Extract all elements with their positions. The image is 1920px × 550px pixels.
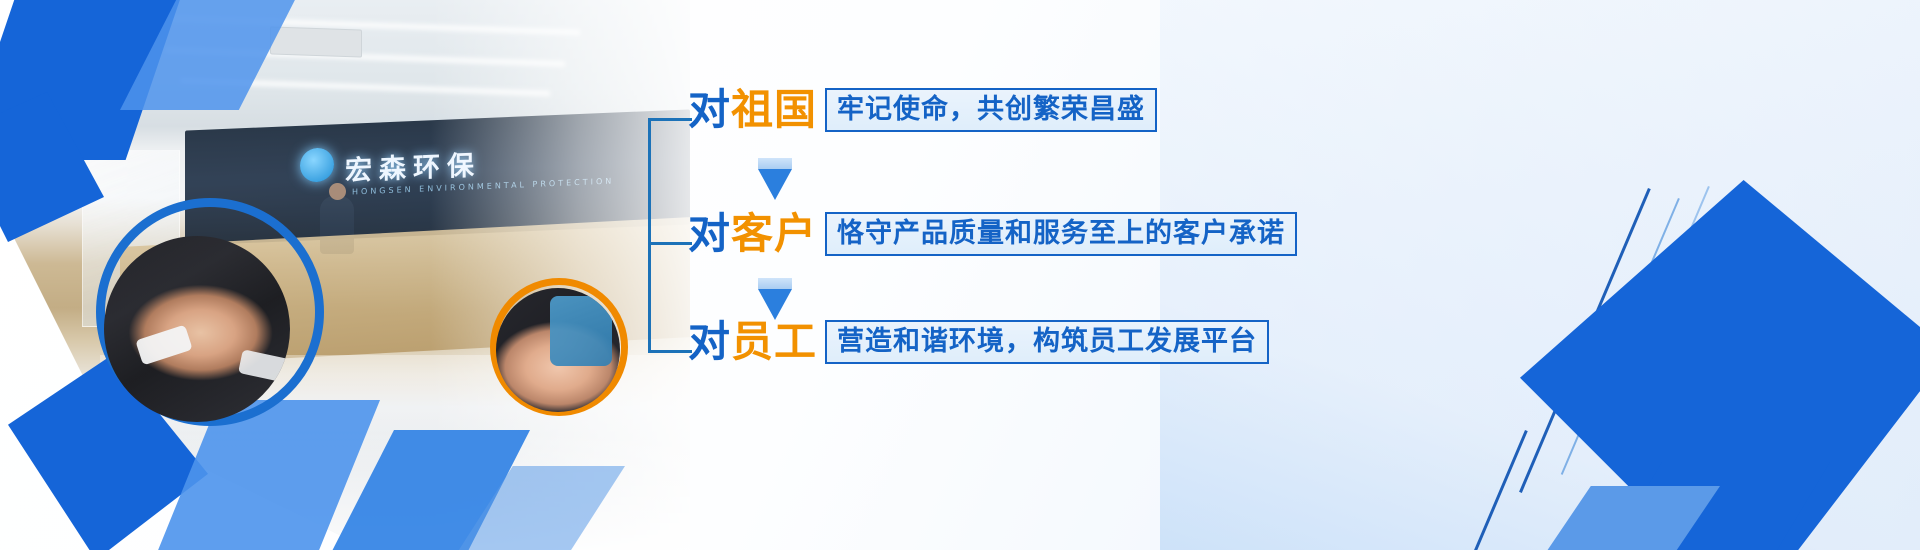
down-arrow-icon-1 [758, 158, 792, 200]
down-arrow-icon-2 [758, 278, 792, 320]
value-row-2: 对客户 恪守产品质量和服务至上的客户承诺 [688, 212, 1297, 256]
value-lead-prefix-1: 对 [688, 85, 731, 134]
ceiling-vent [270, 26, 362, 57]
value-quote-1: 牢记使命，共创繁荣昌盛 [825, 88, 1157, 132]
value-lead-prefix-2: 对 [688, 209, 731, 258]
value-row-3: 对员工 营造和谐环境，构筑员工发展平台 [688, 320, 1269, 364]
value-lead-2: 对客户 [688, 213, 817, 255]
value-lead-highlight-3: 员工 [731, 317, 817, 366]
bracket-arm-3 [648, 350, 692, 353]
value-lead-3: 对员工 [688, 321, 817, 363]
value-lead-highlight-1: 祖国 [731, 85, 817, 134]
value-quote-3: 营造和谐环境，构筑员工发展平台 [825, 320, 1269, 364]
value-quote-2: 恪守产品质量和服务至上的客户承诺 [825, 212, 1297, 256]
handshake-photo [104, 236, 290, 422]
value-lead-1: 对祖国 [688, 89, 817, 131]
value-lead-prefix-3: 对 [688, 317, 731, 366]
blue-shirt [550, 296, 612, 366]
value-lead-highlight-2: 客户 [731, 209, 817, 258]
shirt-cuff [135, 325, 192, 366]
values-list: 对祖国 牢记使命，共创繁荣昌盛 对客户 恪守产品质量和服务至上的客户承诺 对员工… [648, 0, 1408, 550]
shirt-cuff [238, 349, 290, 382]
bracket-arm-2 [648, 242, 692, 245]
company-values-banner: 宏森环保 HONGSEN ENVIRONMENTAL PROTECTION 对祖… [0, 0, 1920, 550]
bracket-arm-1 [648, 118, 692, 121]
value-row-1: 对祖国 牢记使命，共创繁荣昌盛 [688, 88, 1157, 132]
applause-photo [496, 288, 620, 412]
